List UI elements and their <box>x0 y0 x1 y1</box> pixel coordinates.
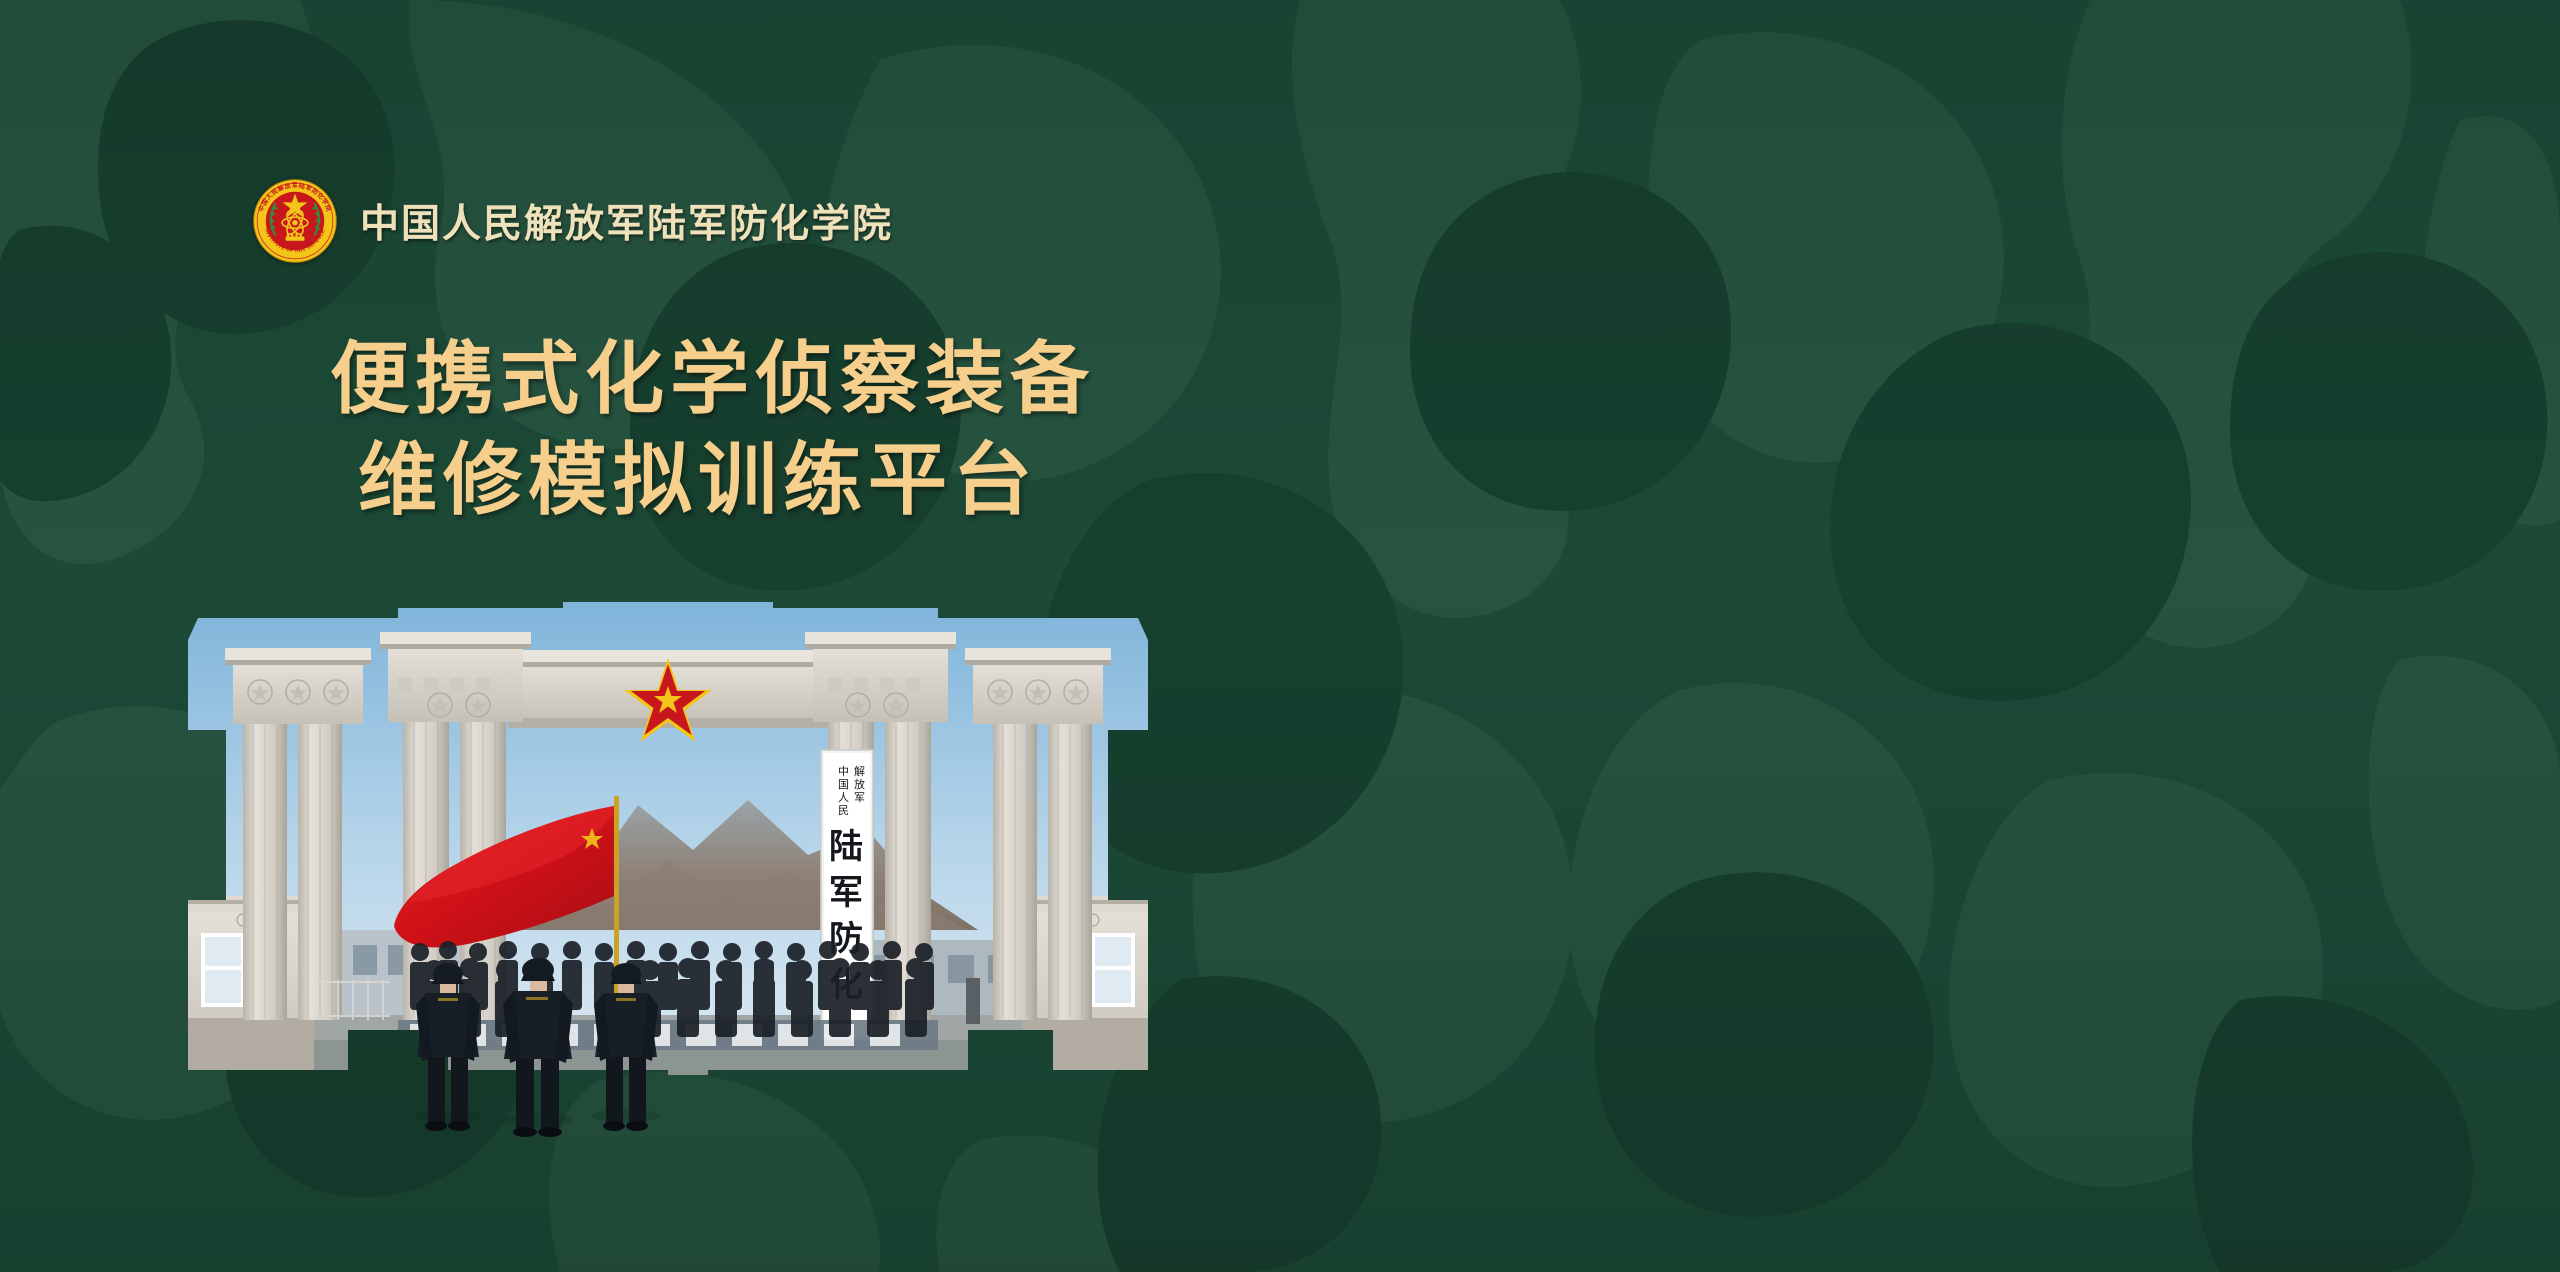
svg-text:民: 民 <box>838 805 849 817</box>
academy-gate-parade-photo: 中 国 人 民 解 放 军 陆 军 防 化 <box>148 600 1188 1160</box>
platform-title-line-1: 便携式化学侦察装备 <box>330 330 1095 431</box>
platform-title: 便携式化学侦察装备 维修模拟训练平台 <box>330 330 1095 532</box>
gate-sign-large-text: 陆 <box>829 828 863 866</box>
splash-screen: 中国人民解放军陆军防化学院 INSTITUTE OF NBC DEFENCE 中… <box>0 0 2560 1272</box>
institute-name: 中国人民解放军陆军防化学院 <box>360 193 893 249</box>
gate-sign-small-text: 中 <box>838 765 849 778</box>
foreground-soldiers <box>414 958 660 1137</box>
svg-text:国: 国 <box>838 778 849 791</box>
svg-text:军: 军 <box>829 875 863 912</box>
svg-text:军: 军 <box>854 791 865 804</box>
brand-row: 中国人民解放军陆军防化学院 INSTITUTE OF NBC DEFENCE 中… <box>252 178 893 264</box>
svg-text:放: 放 <box>854 777 865 791</box>
svg-text:解: 解 <box>854 764 865 778</box>
institute-emblem-icon: 中国人民解放军陆军防化学院 INSTITUTE OF NBC DEFENCE <box>252 178 338 264</box>
platform-title-line-2: 维修模拟训练平台 <box>330 431 1095 532</box>
svg-text:人: 人 <box>838 791 849 804</box>
